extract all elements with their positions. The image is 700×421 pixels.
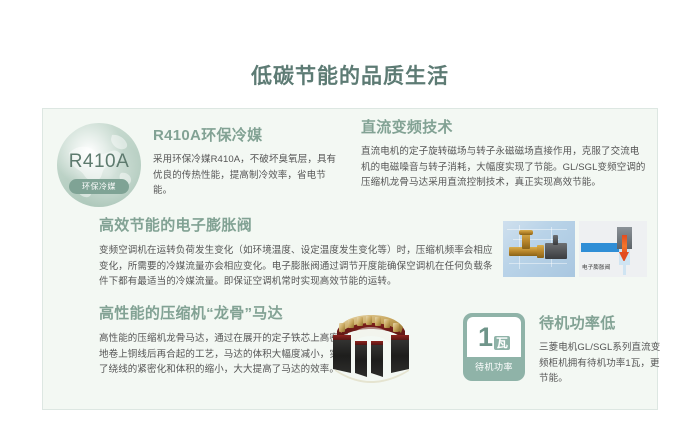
standby-power-unit: 瓦 [494, 336, 510, 350]
standby-power-badge-caption: 待机功率 [467, 357, 521, 377]
section-standby-power: 待机功率低 三菱电机GL/SGL系列直流变频柜机拥有待机功率1瓦，更节能。 [539, 315, 664, 387]
section-dc-inverter: 直流变频技术 直流电机的定子旋转磁场与转子永磁磁场直接作用，克服了交流电机的电磁… [361, 119, 646, 191]
section-compressor-motor: 高性能的压缩机“龙骨”马达 高性能的压缩机龙骨马达，通过在展开的定子铁芯上高密度… [57, 305, 647, 400]
standby-power-heading: 待机功率低 [539, 315, 664, 333]
section-r410a-refrigerant: R410A 环保冷媒 R410A环保冷媒 采用环保冷媒R410A，不破坏臭氧层，… [57, 119, 347, 211]
standby-power-body: 三菱电机GL/SGL系列直流变频柜机拥有待机功率1瓦，更节能。 [539, 340, 664, 387]
expansion-valve-text-block: 高效节能的电子膨胀阀 变频空调机在运转负荷发生变化（如环境温度、设定温度发生变化… [99, 217, 494, 290]
expansion-valve-image-group: 电子膨胀阀 [503, 221, 647, 277]
expansion-valve-diagram-label: 电子膨胀阀 [582, 263, 611, 271]
dc-inverter-heading: 直流变频技术 [361, 119, 646, 137]
r410a-text-block: R410A环保冷媒 采用环保冷媒R410A，不破坏臭氧层，具有优良的传热性能，提… [153, 127, 343, 199]
standby-power-badge: 1 瓦 待机功率 [463, 313, 525, 381]
expansion-valve-heading: 高效节能的电子膨胀阀 [99, 217, 494, 235]
r410a-body: 采用环保冷媒R410A，不破坏臭氧层，具有优良的传热性能，提高制冷效率，省电节能… [153, 152, 343, 199]
page-title: 低碳节能的品质生活 [0, 60, 700, 90]
stator-core-image [325, 311, 417, 383]
r410a-heading: R410A环保冷媒 [153, 127, 343, 145]
r410a-badge-pill: 环保冷媒 [69, 179, 129, 194]
expansion-valve-diagram: 电子膨胀阀 [579, 221, 647, 277]
standby-power-badge-value: 1 瓦 [467, 317, 521, 357]
expansion-valve-body: 变频空调机在运转负荷发生变化（如环境温度、设定温度发生变化等）时，压缩机频率会相… [99, 243, 494, 290]
r410a-badge: R410A 环保冷媒 [57, 123, 141, 207]
compressor-motor-body: 高性能的压缩机龙骨马达，通过在展开的定子铁芯上高密度地卷上铜线后再合起的工艺，马… [99, 331, 349, 378]
standby-power-number: 1 [478, 324, 493, 351]
r410a-badge-code: R410A [57, 151, 141, 173]
compressor-motor-heading: 高性能的压缩机“龙骨”马达 [99, 305, 349, 323]
expansion-valve-photo [503, 221, 575, 277]
compressor-motor-text-block: 高性能的压缩机“龙骨”马达 高性能的压缩机龙骨马达，通过在展开的定子铁芯上高密度… [99, 305, 349, 378]
dc-inverter-body: 直流电机的定子旋转磁场与转子永磁磁场直接作用，克服了交流电机的电磁噪音与转子消耗… [361, 144, 646, 191]
section-expansion-valve: 高效节能的电子膨胀阀 变频空调机在运转负荷发生变化（如环境温度、设定温度发生变化… [57, 217, 647, 297]
content-panel: R410A 环保冷媒 R410A环保冷媒 采用环保冷媒R410A，不破坏臭氧层，… [42, 108, 658, 410]
